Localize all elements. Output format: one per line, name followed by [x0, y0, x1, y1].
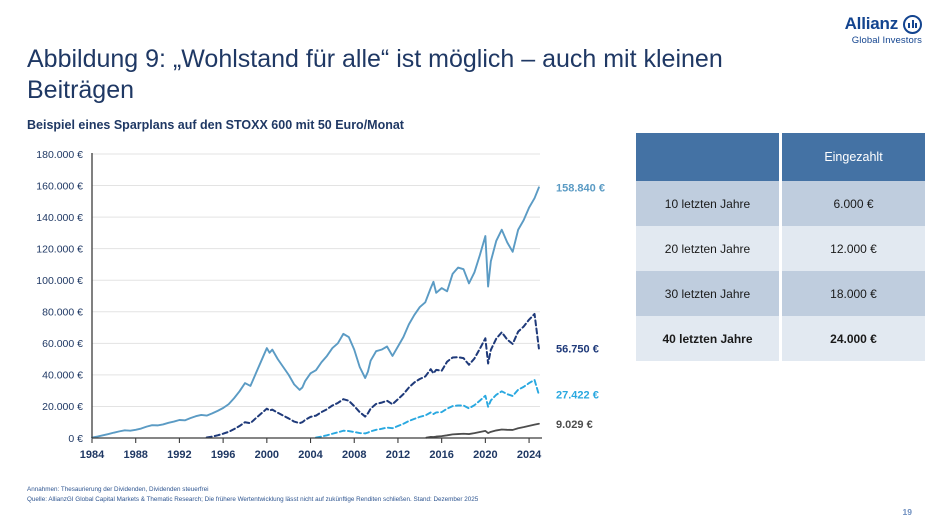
page-number: 19	[903, 507, 912, 517]
series-line	[92, 187, 539, 437]
y-axis-tick: 40.000 €	[42, 370, 83, 382]
series-end-label: 56.750 €	[556, 343, 599, 355]
y-axis-tick: 140.000 €	[36, 212, 83, 224]
chart-axes	[92, 153, 542, 438]
table-row: 20 letzten Jahre12.000 €	[636, 226, 925, 271]
payin-period-label: 30 letzten Jahre	[636, 271, 779, 316]
payin-period-label: 40 letzten Jahre	[636, 316, 779, 361]
series-end-label: 27.422 €	[556, 390, 599, 402]
chart-series-lines	[92, 187, 539, 437]
series-line	[207, 314, 539, 438]
chart-end-value-labels: 158.840 €56.750 €27.422 €9.029 €	[556, 182, 605, 430]
table-row: 10 letzten Jahre6.000 €	[636, 181, 925, 226]
x-axis-tick: 1992	[167, 449, 191, 461]
series-end-label: 9.029 €	[556, 419, 593, 431]
payin-header-blank	[636, 133, 779, 181]
chart-gridlines	[92, 154, 540, 443]
y-axis-tick: 180.000 €	[36, 149, 83, 161]
table-row: 30 letzten Jahre18.000 €	[636, 271, 925, 316]
x-axis-tick: 2004	[298, 449, 323, 461]
logo-row: Allianz	[845, 14, 922, 34]
footnotes: Annahmen: Thesaurierung der Dividenden, …	[27, 485, 478, 506]
payin-period-label: 10 letzten Jahre	[636, 181, 779, 226]
y-axis-tick: 0 €	[68, 433, 83, 445]
savings-plan-chart: 0 €20.000 €40.000 €60.000 €80.000 €100.0…	[0, 140, 630, 480]
payin-table-head: Eingezahlt	[636, 133, 925, 181]
footnote-source: Quelle: AllianzGI Global Capital Markets…	[27, 495, 478, 505]
y-axis-tick-labels: 0 €20.000 €40.000 €60.000 €80.000 €100.0…	[36, 149, 83, 445]
x-axis-tick: 2008	[342, 449, 366, 461]
chart-subtitle: Beispiel eines Sparplans auf den STOXX 6…	[27, 118, 404, 132]
payin-table-header-row: Eingezahlt	[636, 133, 925, 181]
allianz-logo: Allianz Global Investors	[845, 14, 922, 46]
x-axis-tick: 1988	[123, 449, 147, 461]
payin-amount-value: 18.000 €	[782, 271, 925, 316]
page-title: Abbildung 9: „Wohlstand für alle“ ist mö…	[27, 44, 817, 107]
payin-amount-value: 12.000 €	[782, 226, 925, 271]
y-axis-tick: 20.000 €	[42, 401, 83, 413]
table-row: 40 letzten Jahre24.000 €	[636, 316, 925, 361]
chart-svg: 0 €20.000 €40.000 €60.000 €80.000 €100.0…	[0, 140, 630, 480]
y-axis-tick: 60.000 €	[42, 338, 83, 350]
y-axis-tick: 100.000 €	[36, 275, 83, 287]
payin-amount-value: 24.000 €	[782, 316, 925, 361]
x-axis-tick: 2024	[517, 449, 542, 461]
logo-subtitle: Global Investors	[845, 35, 922, 46]
x-axis-tick-labels: 1984198819921996200020042008201220162020…	[80, 449, 542, 461]
x-axis-tick: 2000	[255, 449, 279, 461]
logo-wordmark: Allianz	[845, 14, 898, 34]
x-axis-tick: 2020	[473, 449, 497, 461]
payin-amount-value: 6.000 €	[782, 181, 925, 226]
series-end-label: 158.840 €	[556, 182, 605, 194]
footnote-assumptions: Annahmen: Thesaurierung der Dividenden, …	[27, 485, 478, 495]
payin-header-eingezahlt: Eingezahlt	[782, 133, 925, 181]
x-axis-tick: 1984	[80, 449, 105, 461]
payin-period-label: 20 letzten Jahre	[636, 226, 779, 271]
x-axis-tick: 2016	[429, 449, 453, 461]
y-axis-tick: 120.000 €	[36, 243, 83, 255]
y-axis-tick: 80.000 €	[42, 307, 83, 319]
x-axis-tick: 2012	[386, 449, 410, 461]
allianz-bars-icon	[903, 15, 922, 34]
payin-table: Eingezahlt 10 letzten Jahre6.000 €20 let…	[633, 133, 928, 361]
series-line	[426, 424, 539, 438]
y-axis-tick: 160.000 €	[36, 180, 83, 192]
x-axis-tick: 1996	[211, 449, 235, 461]
payin-table-body: 10 letzten Jahre6.000 €20 letzten Jahre1…	[636, 181, 925, 361]
